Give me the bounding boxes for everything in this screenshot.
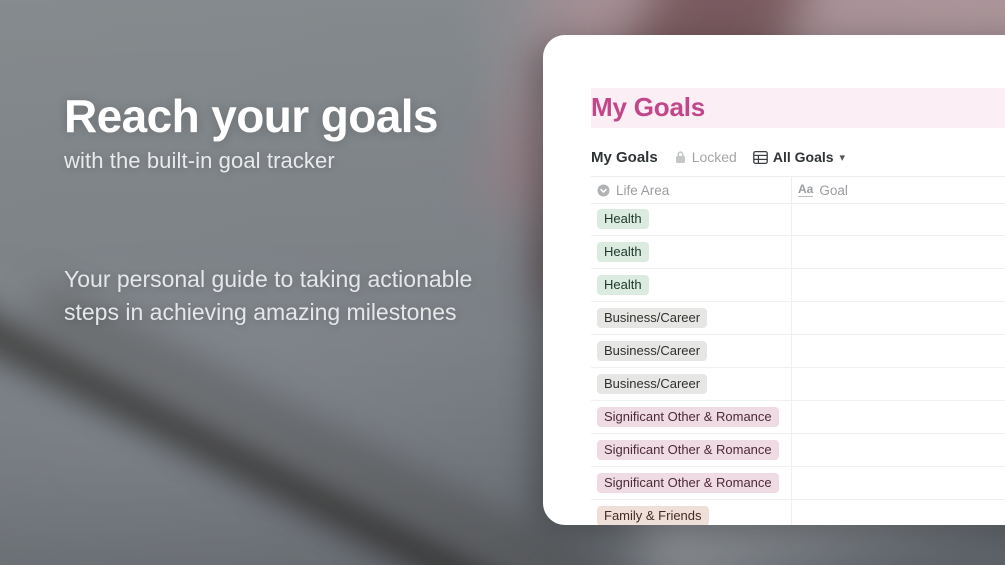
database-toolbar: My Goals Locked [591,138,1005,177]
column-header-life-area-label: Life Area [616,183,669,198]
column-header-goal-label: Goal [819,183,848,198]
table-row[interactable]: Significant Other & Romance [591,467,1005,500]
life-area-tag: Significant Other & Romance [597,473,779,493]
view-label: All Goals [773,149,834,165]
cell-goal[interactable] [792,500,1005,525]
cell-goal[interactable] [792,269,1005,301]
life-area-tag: Health [597,209,649,229]
table-row[interactable]: Business/Career [591,302,1005,335]
view-selector[interactable]: All Goals ▾ [753,149,845,165]
slide-canvas: Reach your goals with the built-in goal … [0,0,1005,565]
text-property-icon: Aa [798,183,813,197]
cell-goal[interactable] [792,302,1005,334]
cell-life-area[interactable]: Health [591,236,792,268]
table-row[interactable]: Health [591,269,1005,302]
cell-goal[interactable] [792,236,1005,268]
table-row[interactable]: Health [591,236,1005,269]
select-property-icon [597,184,610,197]
cell-goal[interactable] [792,401,1005,433]
hero-headline: Reach your goals [64,92,534,140]
locked-label: Locked [692,149,737,165]
cell-life-area[interactable]: Significant Other & Romance [591,434,792,466]
cell-life-area[interactable]: Health [591,203,792,235]
database-title[interactable]: My Goals [591,149,658,166]
table-view-icon [753,150,768,165]
cell-goal[interactable] [792,467,1005,499]
table-row[interactable]: Business/Career [591,335,1005,368]
table-row[interactable]: Health [591,203,1005,236]
column-header-life-area[interactable]: Life Area [591,177,792,203]
chevron-down-icon: ▾ [840,151,846,164]
cell-life-area[interactable]: Business/Career [591,302,792,334]
cell-goal[interactable] [792,368,1005,400]
cell-life-area[interactable]: Significant Other & Romance [591,467,792,499]
life-area-tag: Business/Career [597,374,707,394]
hero-subheadline: with the built-in goal tracker [64,148,534,174]
column-header-goal[interactable]: Aa Goal [792,177,1005,203]
cell-goal[interactable] [792,335,1005,367]
hero-copy: Reach your goals with the built-in goal … [64,92,534,174]
life-area-tag: Significant Other & Romance [597,440,779,460]
life-area-tag: Health [597,275,649,295]
cell-life-area[interactable]: Family & Friends [591,500,792,525]
table-row[interactable]: Family & Friends [591,500,1005,525]
life-area-tag: Health [597,242,649,262]
page-title: My Goals [591,92,705,123]
life-area-tag: Business/Career [597,308,707,328]
table-row[interactable]: Significant Other & Romance [591,434,1005,467]
cell-life-area[interactable]: Health [591,269,792,301]
locked-indicator[interactable]: Locked [674,149,737,165]
lock-icon [674,150,687,164]
notion-panel: My Goals My Goals Locked [543,35,1005,525]
table-row[interactable]: Business/Career [591,368,1005,401]
table-header-row: Life Area Aa Goal [591,177,1005,204]
cell-life-area[interactable]: Business/Career [591,335,792,367]
cell-life-area[interactable]: Significant Other & Romance [591,401,792,433]
life-area-tag: Significant Other & Romance [597,407,779,427]
cell-life-area[interactable]: Business/Career [591,368,792,400]
life-area-tag: Business/Career [597,341,707,361]
cell-goal[interactable] [792,203,1005,235]
table-body: HealthHealthHealthBusiness/CareerBusines… [591,203,1005,525]
cell-goal[interactable] [792,434,1005,466]
hero-body-text: Your personal guide to taking actionable… [64,263,484,328]
life-area-tag: Family & Friends [597,506,709,525]
table-row[interactable]: Significant Other & Romance [591,401,1005,434]
